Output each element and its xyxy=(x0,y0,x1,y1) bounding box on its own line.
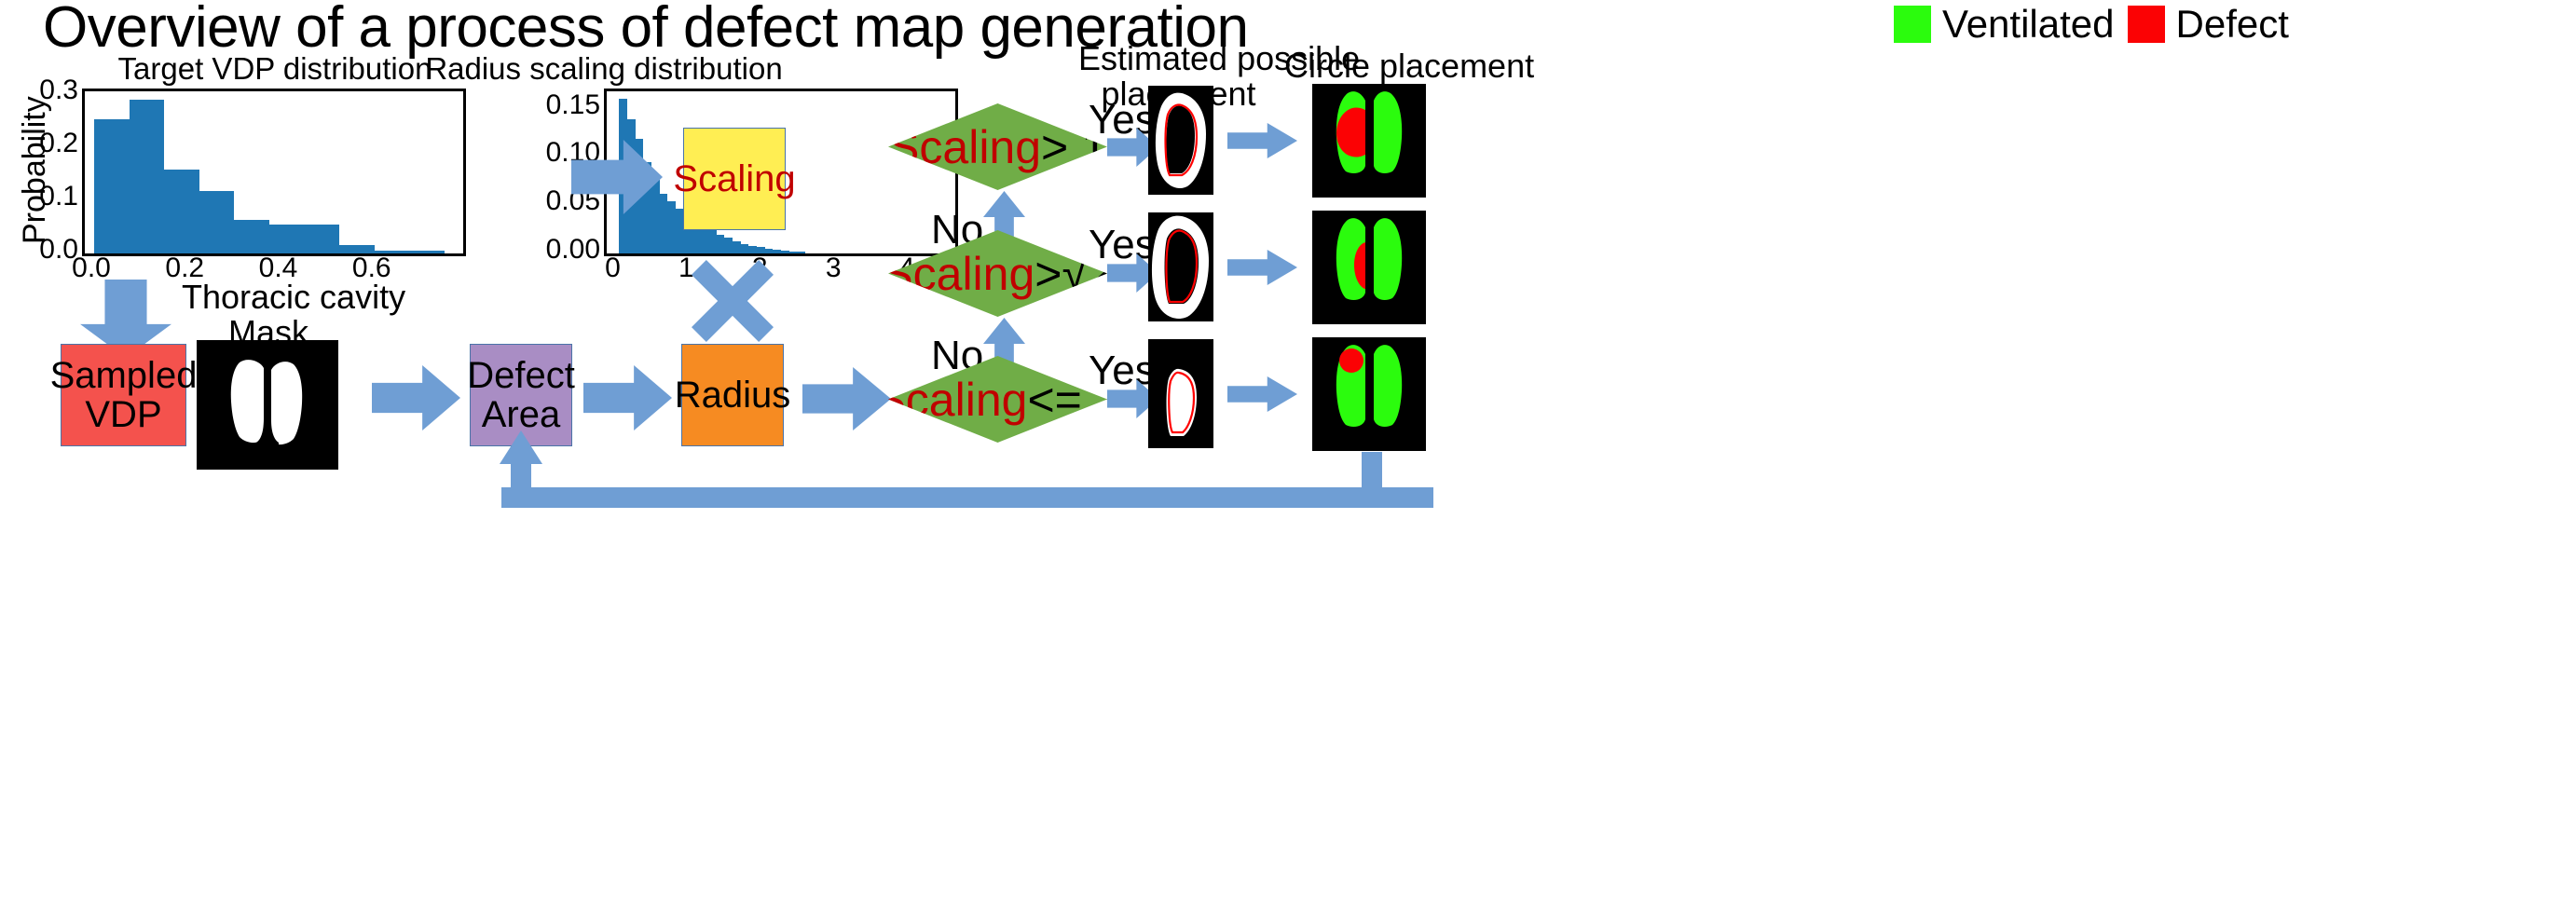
chart-x-tick-label: 0 xyxy=(584,253,640,284)
chart-bar xyxy=(708,230,717,253)
estimated-placement-image-1 xyxy=(1148,86,1213,195)
legend-label-ventilated: Ventilated xyxy=(1942,2,2115,47)
chart-y-tick-label: 0.3 xyxy=(6,75,78,106)
circle-placement-image-3 xyxy=(1312,337,1426,451)
chart-y-tick-label: 0.1 xyxy=(6,181,78,212)
feedback-loop-arrowhead xyxy=(500,430,542,464)
defect-area-line1: Defect xyxy=(467,356,575,395)
decision-3-yes-label: Yes xyxy=(1089,348,1156,394)
chart-bar xyxy=(651,177,660,253)
decision-3-subject: Scaling xyxy=(874,373,1027,427)
thoracic-label-line1: Thoracic cavity xyxy=(182,278,405,316)
circle-placement-header: Circle placement xyxy=(1284,48,1471,84)
circle-header-label: Circle placement xyxy=(1284,47,1534,85)
chart-bar xyxy=(164,170,199,253)
diagram-root: Overview of a process of defect map gene… xyxy=(0,0,2576,915)
estimated-placement-image-3 xyxy=(1148,339,1213,448)
arrow-right-defect-area-to-radius xyxy=(583,365,672,430)
chart-bar xyxy=(94,119,130,253)
decision-2-yes-label: Yes xyxy=(1089,222,1156,268)
chart-plot-area-vdp xyxy=(82,89,466,256)
chart-ylabel-probability: Probability xyxy=(17,96,53,244)
chart-y-tick-label: 0.15 xyxy=(514,89,600,121)
circle-placement-image-1 xyxy=(1312,84,1426,198)
arrow-right-estimated-to-circle-2 xyxy=(1227,250,1297,285)
sampled-vdp-line1: Sampled xyxy=(50,356,198,395)
defect-area-line2: Area xyxy=(482,395,561,434)
arrow-right-estimated-to-circle-1 xyxy=(1227,123,1297,158)
chart-x-tick-label: 3 xyxy=(805,253,861,284)
radius-box: Radius xyxy=(681,344,784,446)
defect-color-swatch xyxy=(2128,6,2165,43)
arrow-right-estimated-to-circle-3 xyxy=(1227,376,1297,412)
legend-label-defect: Defect xyxy=(2176,2,2289,47)
chart-bar xyxy=(724,238,733,253)
ventilated-color-swatch xyxy=(1894,6,1931,43)
chart-bar xyxy=(130,100,165,253)
feedback-loop-bottom-segment xyxy=(501,487,1433,508)
chart-x-tick-label: 0.0 xyxy=(63,253,119,284)
chart-bar xyxy=(733,241,741,253)
estimated-placement-image-2 xyxy=(1148,212,1213,321)
chart-bar xyxy=(660,194,668,253)
chart-bar xyxy=(269,225,305,253)
legend-item-ventilated: Ventilated xyxy=(1894,2,2115,47)
chart-bar xyxy=(700,227,708,253)
circle-placement-image-2 xyxy=(1312,211,1426,324)
sampled-vdp-box: Sampled VDP xyxy=(61,344,186,446)
chart-bar xyxy=(797,252,805,253)
thoracic-cavity-mask-image xyxy=(197,340,338,470)
arrow-right-radius-to-decision-3 xyxy=(802,367,891,430)
chart-bar xyxy=(667,201,676,253)
chart-title-radius: Radius scaling distribution xyxy=(334,51,874,87)
radius-label: Radius xyxy=(675,376,791,415)
chart-bar xyxy=(789,252,798,253)
chart-bar xyxy=(305,225,340,253)
legend: Ventilated Defect xyxy=(1894,2,2289,47)
arrow-right-mask-to-defect-area xyxy=(372,365,460,430)
legend-item-defect: Defect xyxy=(2128,2,2289,47)
sampled-vdp-line2: VDP xyxy=(85,395,161,434)
feedback-loop-right-segment xyxy=(1362,452,1382,494)
scaling-label: Scaling xyxy=(673,159,795,198)
chart-y-tick-label: 0.2 xyxy=(6,128,78,159)
chart-bar xyxy=(409,251,445,253)
scaling-box: Scaling xyxy=(683,128,786,230)
chart-bar xyxy=(717,235,725,253)
feedback-loop-left-segment xyxy=(511,458,531,496)
chart-bar xyxy=(199,191,235,253)
chart-bar xyxy=(234,220,269,254)
decision-scaling-le-1: Scaling <= 1 xyxy=(888,356,1107,443)
